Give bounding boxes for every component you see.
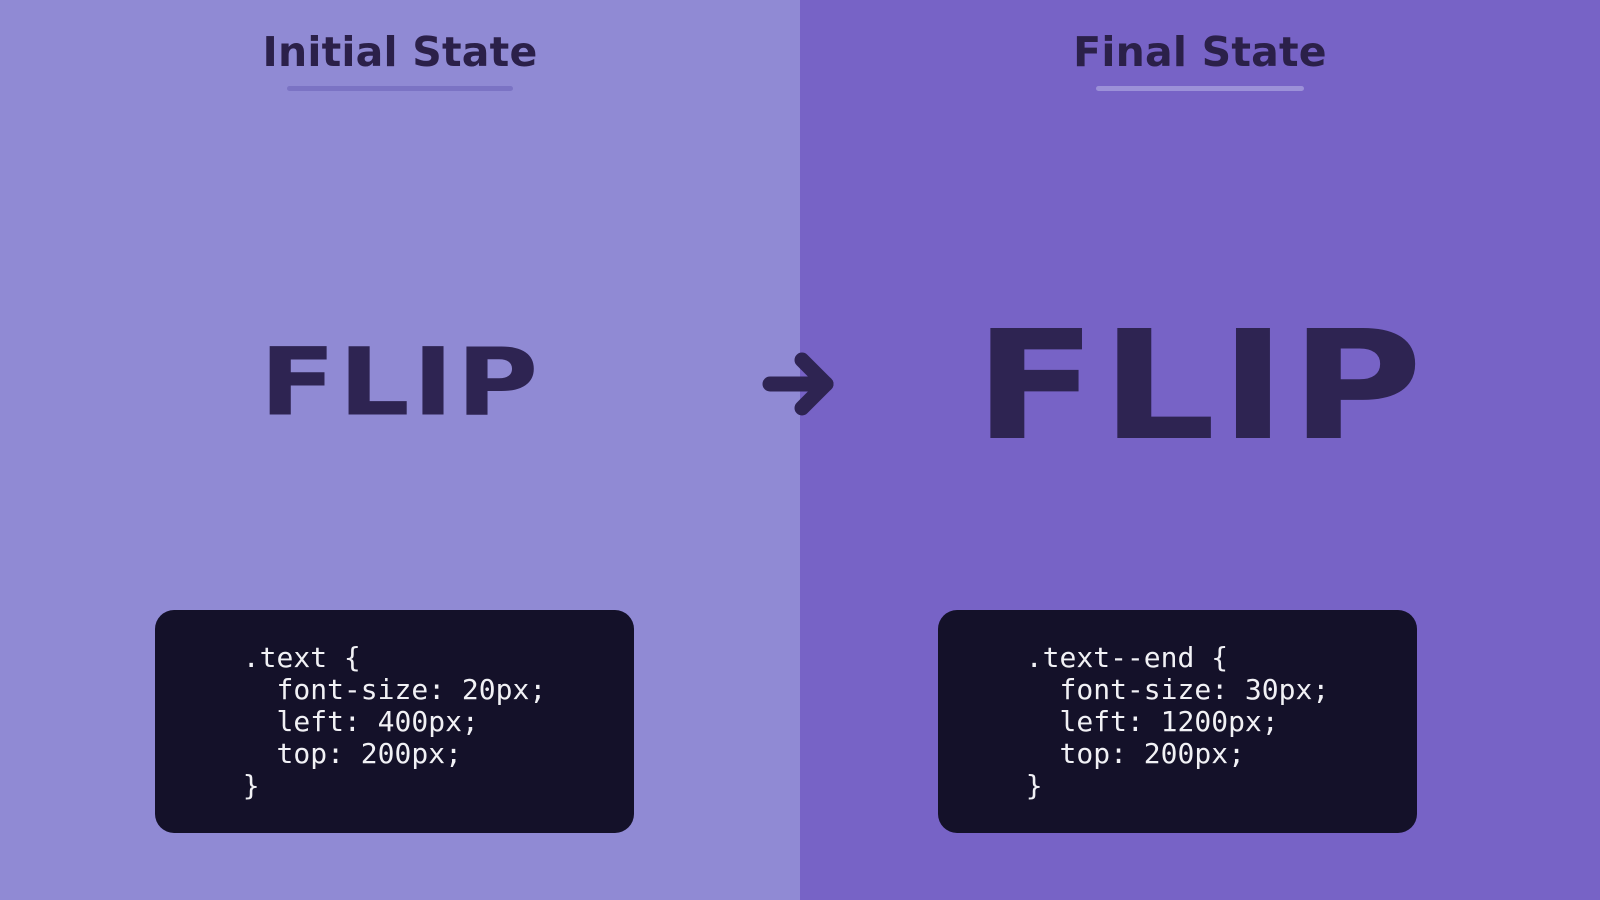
final-state-code-block: .text--end { font-size: 30px; left: 1200… [1026,642,1329,802]
final-state-heading: Final State [800,30,1600,91]
heading-underline-rule [287,86,513,91]
initial-state-code-block: .text { font-size: 20px; left: 400px; to… [243,642,546,802]
initial-flip-word: FLIP [0,336,800,430]
final-state-heading-label: Final State [1073,30,1327,74]
initial-state-heading: Initial State [0,30,800,91]
final-state-code-card: .text--end { font-size: 30px; left: 1200… [938,610,1417,833]
flip-comparison-figure: Initial State FLIP .text { font-size: 20… [0,0,1600,900]
heading-underline-rule [1096,86,1304,91]
initial-state-code-card: .text { font-size: 20px; left: 400px; to… [155,610,634,833]
final-state-panel: Final State FLIP .text--end { font-size:… [800,0,1600,900]
initial-state-panel: Initial State FLIP .text { font-size: 20… [0,0,800,900]
final-flip-word: FLIP [800,311,1600,462]
initial-state-heading-label: Initial State [263,30,538,74]
